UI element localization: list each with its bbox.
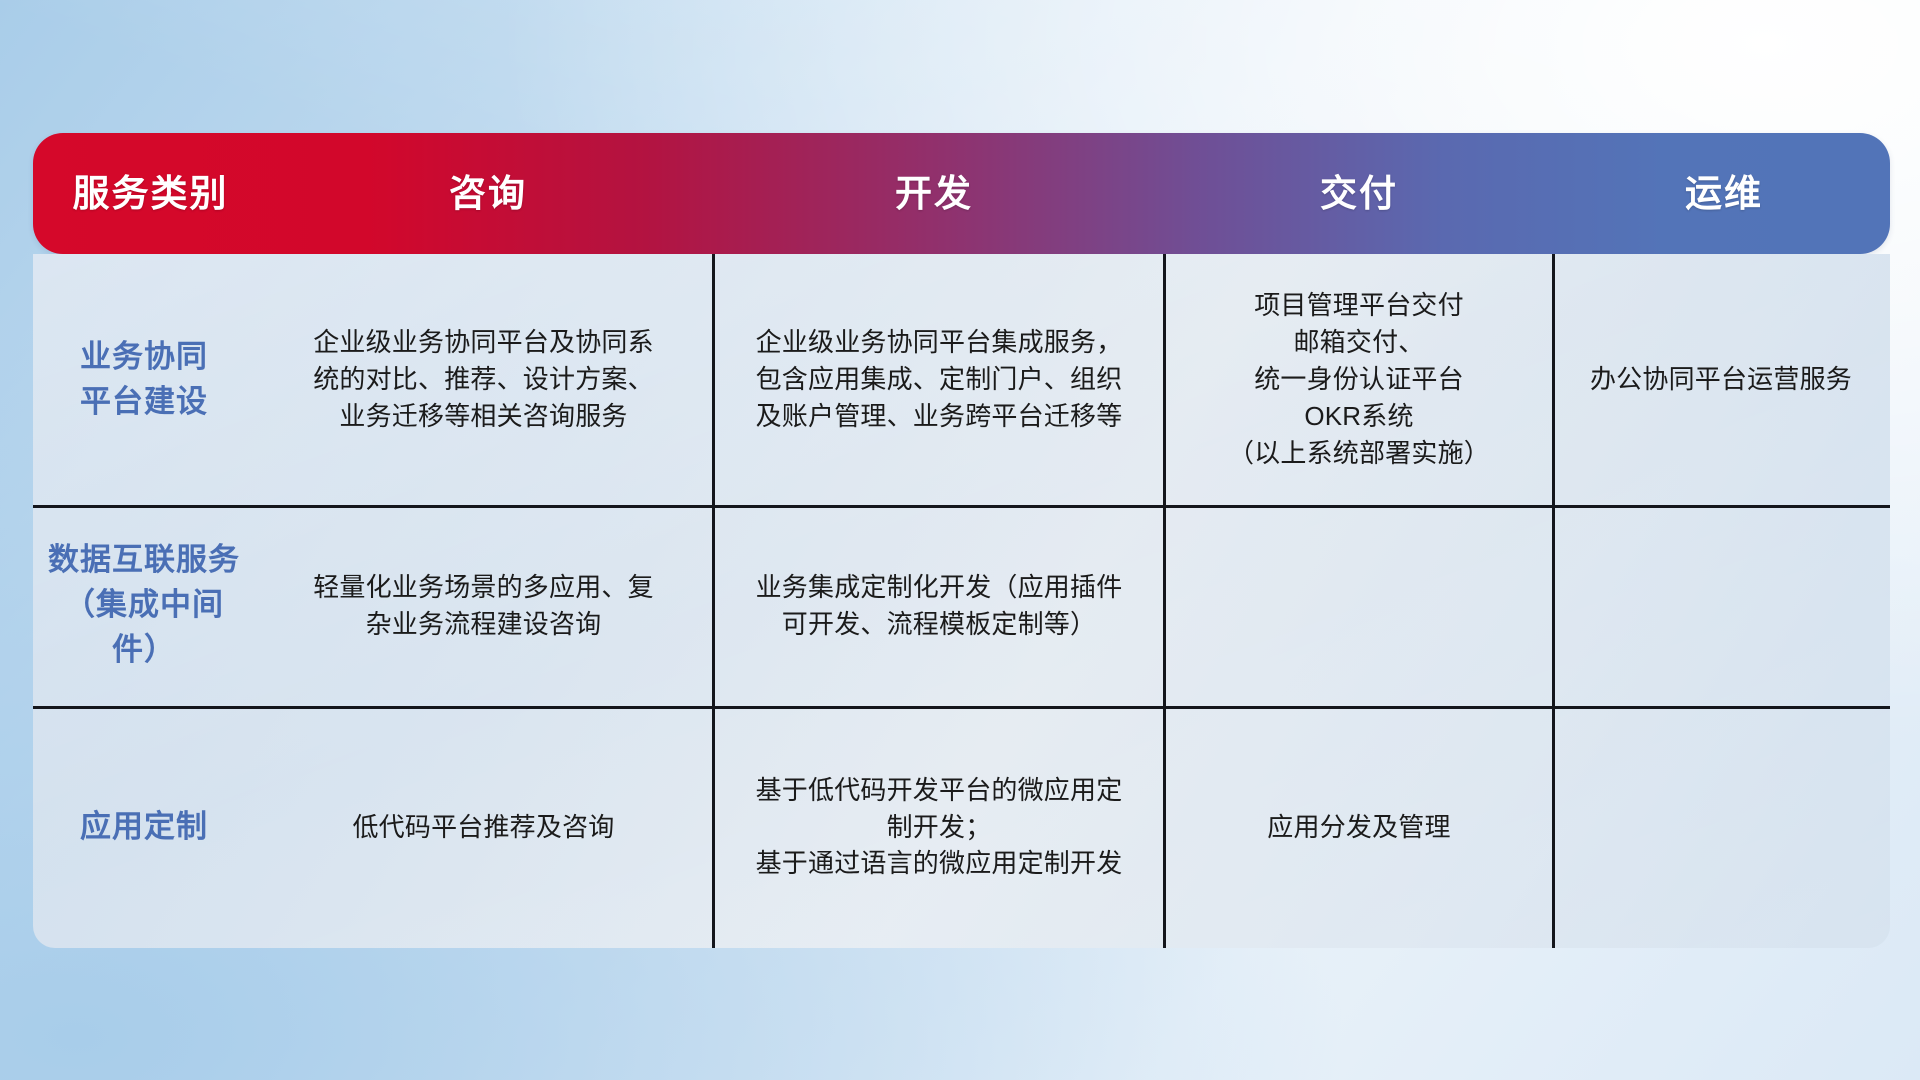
column-header-consulting: 咨询	[268, 175, 708, 212]
table-header-row: 服务类别 咨询 开发 交付 运维	[33, 133, 1890, 254]
table-body: 业务协同 平台建设 企业级业务协同平台及协同系 统的对比、推荐、设计方案、 业务…	[33, 254, 1890, 948]
table-row: 业务协同 平台建设 企业级业务协同平台及协同系 统的对比、推荐、设计方案、 业务…	[33, 254, 1890, 505]
row-1-cell-operations: 办公协同平台运营服务	[1552, 254, 1890, 505]
row-3-cell-consulting: 低代码平台推荐及咨询	[255, 706, 712, 948]
row-3-delivery-text: 应用分发及管理	[1267, 809, 1450, 846]
row-1-cell-development: 企业级业务协同平台集成服务， 包含应用集成、定制门户、组织 及账户管理、业务跨平…	[712, 254, 1166, 505]
service-category-table: 服务类别 咨询 开发 交付 运维 业务协同 平台建设 企业级业务协同平台及协同系…	[33, 133, 1890, 948]
row-3-cell-delivery: 应用分发及管理	[1166, 706, 1552, 948]
row-2-consulting-text: 轻量化业务场景的多应用、复 杂业务流程建设咨询	[313, 569, 654, 643]
row-1-cell-consulting: 企业级业务协同平台及协同系 统的对比、推荐、设计方案、 业务迁移等相关咨询服务	[255, 254, 712, 505]
row-3-cell-category: 应用定制	[33, 706, 255, 948]
row-2-cell-delivery	[1166, 505, 1552, 706]
row-2-category-text: 数据互联服务 （集成中间件）	[47, 538, 241, 673]
row-3-category-text: 应用定制	[80, 805, 208, 850]
column-header-development: 开发	[708, 175, 1160, 212]
row-2-development-text: 业务集成定制化开发（应用插件 可开发、流程模板定制等）	[756, 569, 1123, 643]
row-3-development-text: 基于低代码开发平台的微应用定 制开发； 基于通过语言的微应用定制开发	[756, 772, 1123, 883]
row-1-consulting-text: 企业级业务协同平台及协同系 统的对比、推荐、设计方案、 业务迁移等相关咨询服务	[313, 324, 654, 435]
row-2-cell-development: 业务集成定制化开发（应用插件 可开发、流程模板定制等）	[712, 505, 1166, 706]
table-row: 数据互联服务 （集成中间件） 轻量化业务场景的多应用、复 杂业务流程建设咨询 业…	[33, 505, 1890, 706]
row-3-cell-development: 基于低代码开发平台的微应用定 制开发； 基于通过语言的微应用定制开发	[712, 706, 1166, 948]
row-3-cell-operations	[1552, 706, 1890, 948]
row-3-consulting-text: 低代码平台推荐及咨询	[352, 809, 614, 846]
column-header-operations: 运维	[1558, 175, 1890, 212]
row-2-cell-consulting: 轻量化业务场景的多应用、复 杂业务流程建设咨询	[255, 505, 712, 706]
row-1-operations-text: 办公协同平台运营服务	[1590, 361, 1852, 398]
column-header-category: 服务类别	[33, 175, 268, 212]
row-1-category-text: 业务协同 平台建设	[80, 335, 208, 425]
table-row: 应用定制 低代码平台推荐及咨询 基于低代码开发平台的微应用定 制开发； 基于通过…	[33, 706, 1890, 948]
row-1-cell-delivery: 项目管理平台交付 邮箱交付、 统一身份认证平台 OKR系统 （以上系统部署实施）	[1166, 254, 1552, 505]
row-1-cell-category: 业务协同 平台建设	[33, 254, 255, 505]
row-1-delivery-text: 项目管理平台交付 邮箱交付、 统一身份认证平台 OKR系统 （以上系统部署实施）	[1228, 287, 1490, 472]
row-2-cell-category: 数据互联服务 （集成中间件）	[33, 505, 255, 706]
column-header-delivery: 交付	[1160, 175, 1558, 212]
row-1-development-text: 企业级业务协同平台集成服务， 包含应用集成、定制门户、组织 及账户管理、业务跨平…	[756, 324, 1123, 435]
row-2-cell-operations	[1552, 505, 1890, 706]
